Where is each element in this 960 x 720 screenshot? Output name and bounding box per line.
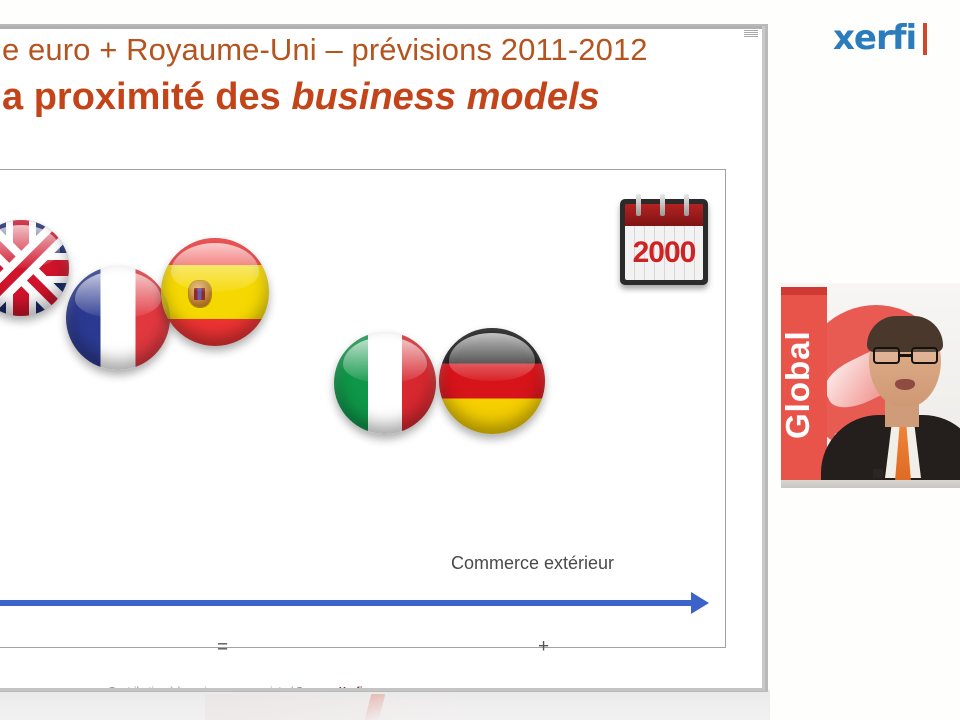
axis-arrow	[0, 600, 693, 606]
flag-italy-field	[334, 332, 436, 434]
flag-germany-icon	[439, 328, 545, 434]
flag-spain-field	[161, 238, 269, 346]
slide-title-line2: a proximité des business models	[0, 75, 760, 121]
presentation-slide[interactable]: e euro + Royaume-Uni – prévisions 2011-2…	[0, 26, 765, 691]
axis-tick-equal: =	[217, 637, 228, 659]
screen-stage: e euro + Royaume-Uni – prévisions 2011-2…	[0, 0, 960, 720]
xerfi-logo[interactable]: xerfi	[833, 18, 927, 58]
background-lower-tint	[205, 694, 455, 720]
xerfi-logo-bar	[923, 23, 927, 55]
footer-note-source: Xerfi	[339, 685, 363, 691]
axis-label-commerce-exterieur: Commerce extérieur	[451, 553, 614, 574]
chart-plot-area: 2000 Commerce extérieur = +	[0, 169, 726, 648]
flag-italy-icon	[334, 332, 436, 434]
video-desk-edge	[781, 480, 960, 488]
video-player-panel[interactable]: Global	[781, 283, 960, 488]
calendar-year-label: 2000	[633, 236, 696, 270]
flag-france-field	[66, 266, 170, 370]
slide-footer-note: Contribution à la croissance en points /…	[108, 685, 363, 691]
calendar-icon: 2000	[620, 199, 708, 285]
flag-spain-crest	[189, 281, 211, 307]
flag-spain-icon	[161, 238, 269, 346]
slide-top-border	[0, 26, 762, 29]
speaker-glasses-icon	[871, 347, 941, 364]
axis-tick-plus: +	[538, 636, 549, 658]
calendar-rings	[625, 194, 703, 214]
slide-title-block: e euro + Royaume-Uni – prévisions 2011-2…	[0, 32, 760, 120]
speaker-mouth	[895, 379, 915, 390]
calendar-sheet: 2000	[625, 226, 703, 280]
slide-title-line2-italic: business models	[291, 76, 599, 118]
flag-uk-icon	[0, 220, 69, 316]
microphone-head-icon	[873, 469, 883, 478]
flag-uk-field	[0, 220, 69, 316]
slide-title-line2-plain: a proximité des	[2, 76, 291, 118]
flag-france-icon	[66, 266, 170, 370]
flag-germany-field	[439, 328, 545, 434]
xerfi-logo-word: xerfi	[833, 18, 916, 58]
footer-note-text: Contribution à la croissance en points /…	[108, 685, 339, 691]
slide-title-line1: e euro + Royaume-Uni – prévisions 2011-2…	[0, 32, 760, 69]
